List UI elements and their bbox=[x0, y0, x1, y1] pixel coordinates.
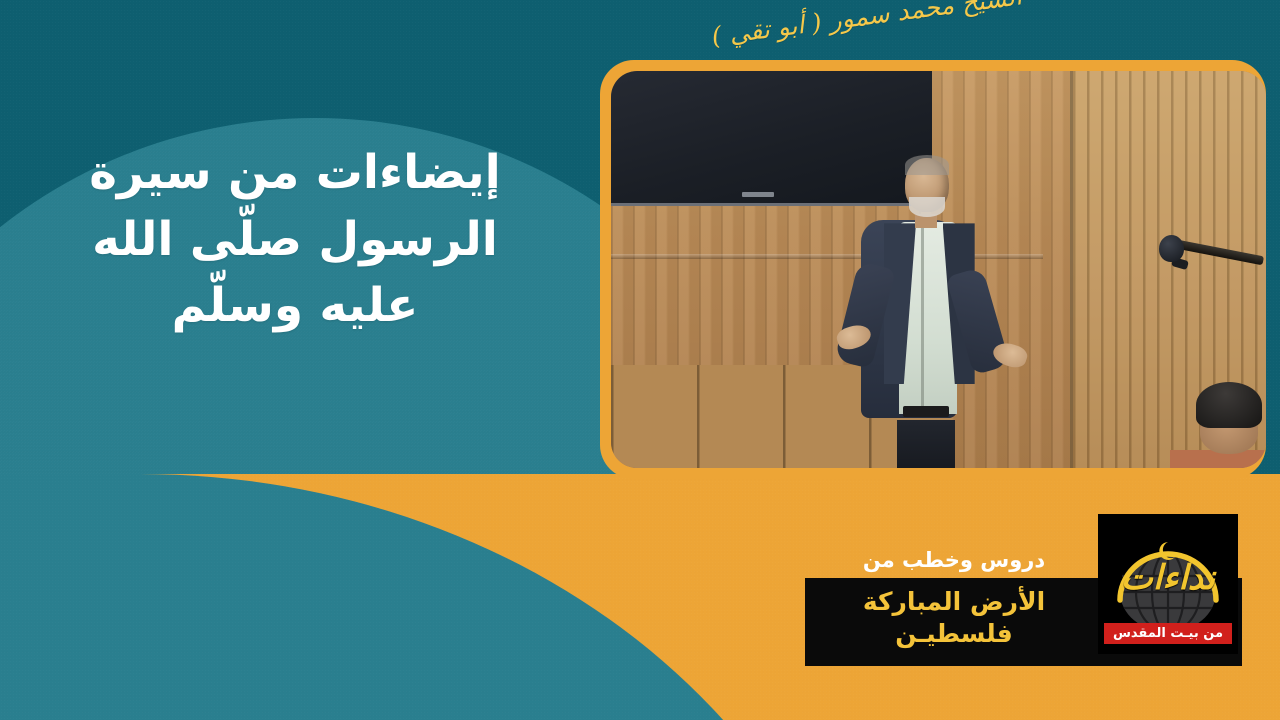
speaker-belt bbox=[903, 406, 949, 417]
speaker-shirt-placket bbox=[921, 226, 924, 406]
channel-logo[interactable]: نداءات من بيـت المقدس bbox=[1098, 514, 1238, 654]
footer-caption-line2-b: فلسطيـن bbox=[804, 618, 1104, 650]
footer-caption-line2-a: الأرض المباركة bbox=[804, 586, 1104, 618]
video-frame[interactable] bbox=[600, 60, 1266, 479]
microphone-icon bbox=[1159, 235, 1184, 262]
logo-wordmark: نداءات bbox=[1098, 558, 1238, 598]
speaker-hair bbox=[905, 155, 949, 175]
seated-attendee bbox=[1170, 376, 1266, 468]
footer-caption-line1: دروس وخطب من bbox=[804, 548, 1104, 573]
speaker-trousers bbox=[897, 420, 955, 468]
footer-caption-line2: الأرض المباركة فلسطيـن bbox=[804, 586, 1104, 650]
video-still bbox=[611, 71, 1266, 468]
logo-ribbon-text: من بيـت المقدس bbox=[1113, 626, 1223, 641]
page-title: إيضاءات من سيرة الرسول صلّى الله عليه وس… bbox=[60, 140, 530, 340]
poster-canvas: الشيخ محمد سمور ( أبو تقي ) إيضاءات من س… bbox=[0, 0, 1280, 720]
blackboard-brand-strip bbox=[742, 192, 774, 197]
logo-ribbon: من بيـت المقدس bbox=[1104, 623, 1232, 644]
speaker-beard bbox=[909, 197, 945, 217]
speaker-figure bbox=[834, 158, 1044, 468]
video-frame-inner bbox=[611, 71, 1266, 468]
attendee-hair bbox=[1196, 382, 1262, 428]
